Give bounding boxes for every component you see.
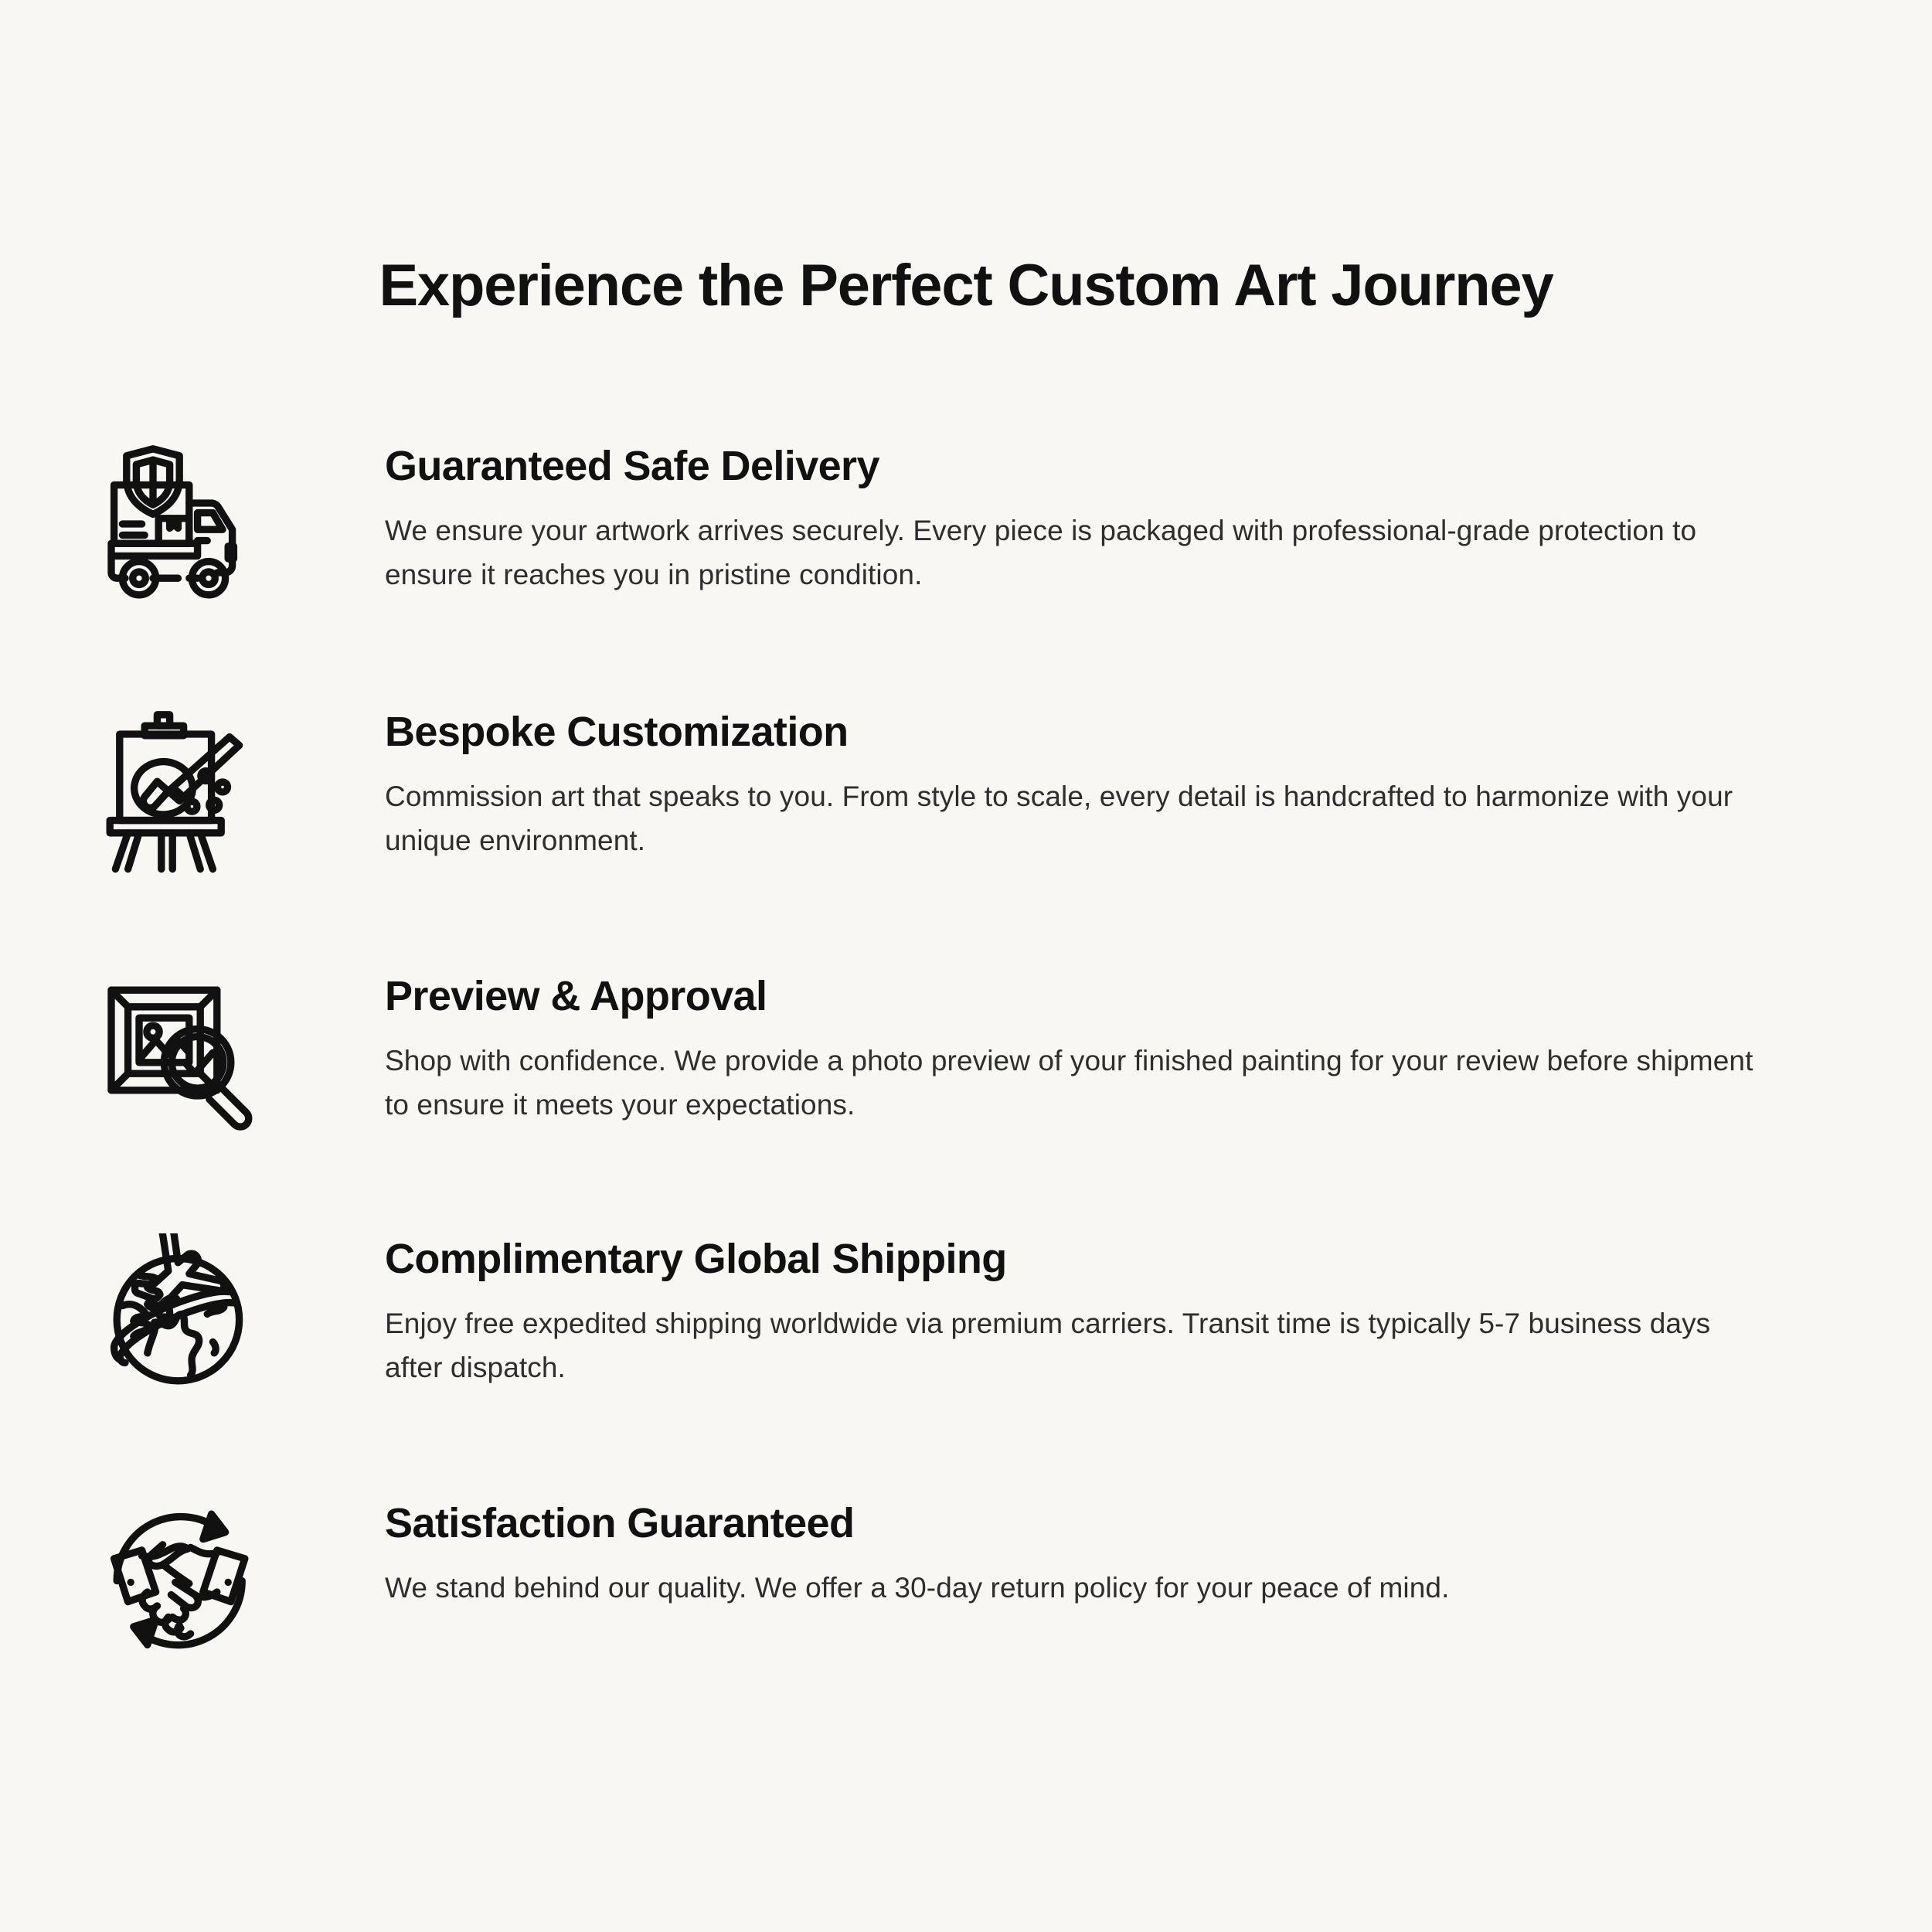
feature-description: Commission art that speaks to you. From … (385, 774, 1768, 863)
feature-item-global-shipping: Complimentary Global Shipping Enjoy free… (0, 1216, 1932, 1478)
feature-text-block: Preview & Approval Shop with confidence.… (385, 954, 1768, 1128)
easel-palette-brush-icon (91, 694, 270, 886)
feature-text-block: Bespoke Customization Commission art tha… (385, 689, 1768, 863)
custom-art-benefits-page: Experience the Perfect Custom Art Journe… (0, 0, 1932, 1932)
feature-text-block: Guaranteed Safe Delivery We ensure your … (385, 423, 1768, 597)
delivery-truck-shield-icon (91, 428, 270, 620)
feature-title: Satisfaction Guaranteed (385, 1499, 1768, 1549)
feature-text-block: Satisfaction Guaranteed We stand behind … (385, 1478, 1768, 1610)
feature-item-preview-approval: Preview & Approval Shop with confidence.… (0, 954, 1932, 1216)
feature-title: Guaranteed Safe Delivery (385, 442, 1768, 492)
feature-item-bespoke-customization: Bespoke Customization Commission art tha… (0, 689, 1932, 954)
feature-list: Guaranteed Safe Delivery We ensure your … (0, 423, 1932, 1733)
feature-title: Complimentary Global Shipping (385, 1235, 1768, 1284)
page-title: Experience the Perfect Custom Art Journe… (0, 253, 1932, 318)
feature-item-satisfaction-guaranteed: Satisfaction Guaranteed We stand behind … (0, 1478, 1932, 1733)
feature-description: We ensure your artwork arrives securely.… (385, 509, 1768, 597)
feature-title: Preview & Approval (385, 972, 1768, 1022)
handshake-return-arrows-icon (91, 1482, 270, 1674)
feature-text-block: Complimentary Global Shipping Enjoy free… (385, 1216, 1768, 1390)
feature-description: We stand behind our quality. We offer a … (385, 1566, 1768, 1611)
feature-item-safe-delivery: Guaranteed Safe Delivery We ensure your … (0, 423, 1932, 689)
feature-title: Bespoke Customization (385, 708, 1768, 757)
framed-picture-magnifier-check-icon (91, 958, 270, 1150)
globe-airplane-icon (91, 1221, 270, 1413)
feature-description: Enjoy free expedited shipping worldwide … (385, 1301, 1768, 1390)
feature-description: Shop with confidence. We provide a photo… (385, 1039, 1768, 1128)
